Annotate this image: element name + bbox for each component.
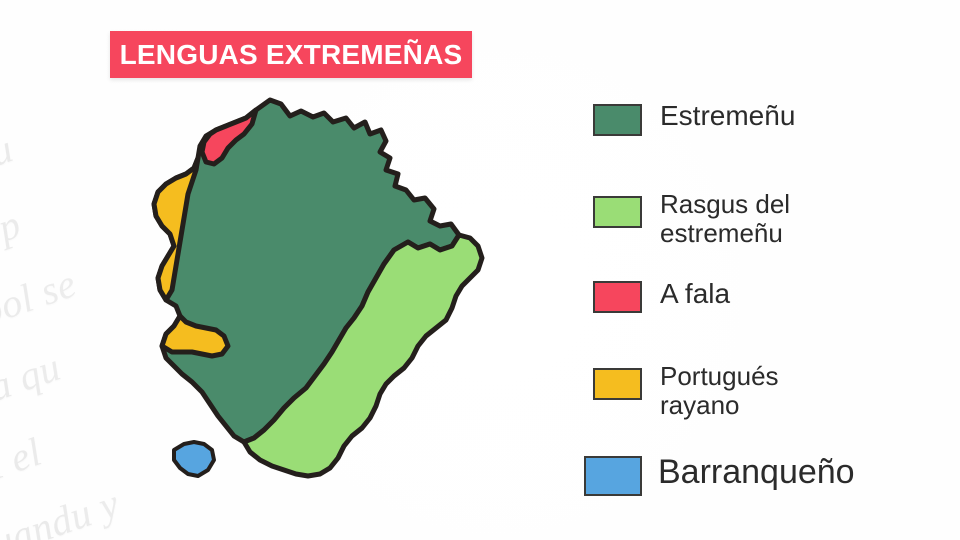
title-banner: LENGUAS EXTREMEÑAS (110, 31, 472, 78)
legend-label-rasgus-del-estremenu: Rasgus del estremeñu (660, 190, 790, 248)
legend-swatch-estremenu (593, 104, 642, 136)
extremadura-map-svg (118, 78, 538, 528)
legend-swatch-barranqueno (584, 456, 642, 496)
legend-swatch-rasgus-del-estremenu (593, 196, 642, 228)
legend-item-rasgus-del-estremenu[interactable]: Rasgus del estremeñu (593, 190, 790, 248)
map-legend: Estremeñu Rasgus del estremeñu A fala Po… (578, 86, 958, 516)
legend-item-a-fala[interactable]: A fala (593, 278, 730, 313)
legend-label-portugues-rayano: Portugués rayano (660, 362, 779, 420)
page-title: LENGUAS EXTREMEÑAS (120, 39, 463, 71)
legend-swatch-portugues-rayano (593, 368, 642, 400)
legend-label-a-fala: A fala (660, 278, 730, 310)
map-region-barranqueno (174, 442, 214, 476)
legend-swatch-a-fala (593, 281, 642, 313)
map-container (118, 78, 538, 528)
legend-item-estremenu[interactable]: Estremeñu (593, 100, 795, 136)
legend-item-portugues-rayano[interactable]: Portugués rayano (593, 362, 779, 420)
legend-label-barranqueno: Barranqueño (658, 452, 855, 492)
language-map-infographic: rga de la de salil la resolu epesaumbras… (0, 0, 960, 540)
legend-item-barranqueno[interactable]: Barranqueño (584, 452, 855, 496)
legend-label-estremenu: Estremeñu (660, 100, 795, 132)
